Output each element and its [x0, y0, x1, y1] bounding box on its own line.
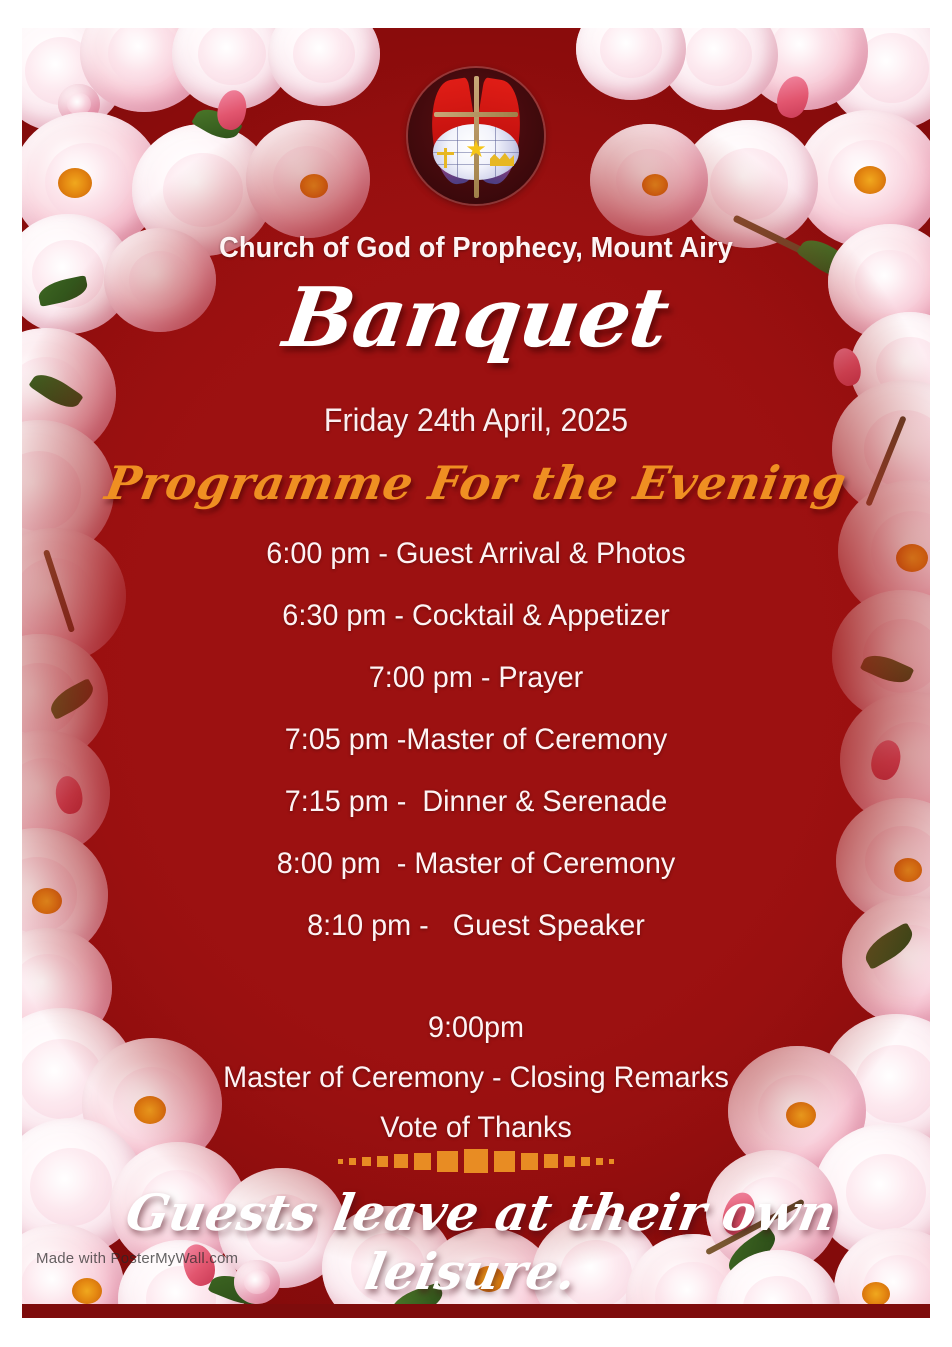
divider-square	[394, 1154, 408, 1168]
schedule-list: 6:00 pm - Guest Arrival & Photos 6:30 pm…	[22, 523, 930, 957]
divider-square	[414, 1153, 431, 1170]
divider-square	[338, 1159, 343, 1164]
schedule-item: 6:30 pm - Cocktail & Appetizer	[40, 585, 912, 647]
divider-square	[596, 1158, 603, 1165]
church-logo: ★	[408, 68, 544, 204]
postermywall-watermark: Made with PosterMyWall.com	[36, 1250, 238, 1267]
divider-square	[437, 1151, 458, 1172]
closing-note: Guests leave at their own leisure.	[22, 1183, 930, 1301]
divider-square	[494, 1151, 515, 1172]
closing-time: 9:00pm	[40, 1003, 912, 1053]
programme-heading: Programme For the Evening	[22, 456, 930, 510]
divider-square	[521, 1153, 538, 1170]
closing-remarks: Master of Ceremony - Closing Remarks	[40, 1053, 912, 1103]
schedule-item: 7:05 pm -Master of Ceremony	[40, 709, 912, 771]
cross-bar-icon	[434, 112, 518, 117]
church-name: Church of God of Prophecy, Mount Airy	[49, 232, 903, 265]
closing-block: 9:00pm Master of Ceremony - Closing Rema…	[22, 1003, 930, 1153]
schedule-item: 8:10 pm - Guest Speaker	[40, 895, 912, 957]
schedule-item: 6:00 pm - Guest Arrival & Photos	[40, 523, 912, 585]
divider-square	[564, 1156, 575, 1167]
divider-square	[609, 1159, 614, 1164]
divider-square	[544, 1154, 558, 1168]
divider-square	[581, 1157, 590, 1166]
gold-cross-icon	[444, 148, 447, 168]
schedule-item: 7:15 pm - Dinner & Serenade	[40, 771, 912, 833]
star-icon: ★	[464, 138, 488, 162]
divider-square	[349, 1158, 356, 1165]
bottom-band	[22, 1304, 930, 1318]
tapered-square-divider	[22, 1146, 930, 1176]
schedule-item: 7:00 pm - Prayer	[40, 647, 912, 709]
event-title: Banquet	[22, 270, 930, 366]
event-date: Friday 24th April, 2025	[45, 402, 908, 439]
poster-canvas: ★ Church of God of Prophecy, Mount Airy …	[22, 28, 930, 1318]
divider-square	[377, 1156, 388, 1167]
divider-square	[362, 1157, 371, 1166]
schedule-item: 8:00 pm - Master of Ceremony	[40, 833, 912, 895]
divider-square	[464, 1149, 488, 1173]
